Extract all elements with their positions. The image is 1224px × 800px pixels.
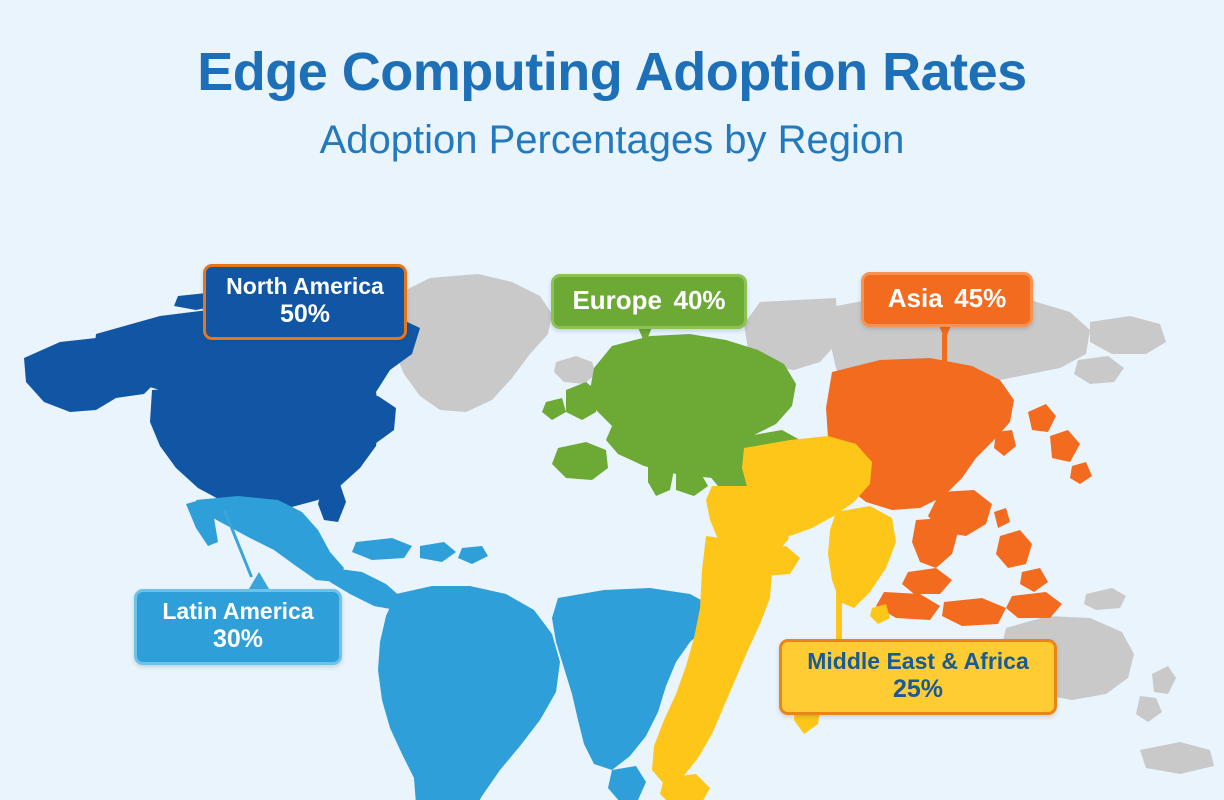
- callout-asia-label: Asia: [888, 283, 943, 313]
- header: Edge Computing Adoption Rates Adoption P…: [0, 0, 1224, 162]
- callout-north-america[interactable]: North America 50%: [203, 264, 407, 340]
- callout-north-america-label: North America: [222, 274, 388, 300]
- callout-europe-value: 40%: [673, 285, 725, 315]
- callout-latin-america[interactable]: Latin America 30%: [134, 589, 342, 665]
- connector-line-asia: [942, 334, 947, 402]
- callout-europe-label: Europe: [572, 285, 662, 315]
- callout-asia-value: 45%: [954, 283, 1006, 313]
- world-map: [0, 250, 1224, 800]
- infographic-canvas: Edge Computing Adoption Rates Adoption P…: [0, 0, 1224, 800]
- callout-middle-east-africa-label: Middle East & Africa: [798, 649, 1038, 675]
- callout-latin-america-label: Latin America: [153, 599, 323, 625]
- page-title: Edge Computing Adoption Rates: [0, 44, 1224, 101]
- world-map-svg: [0, 250, 1224, 800]
- callout-middle-east-africa-value: 25%: [798, 675, 1038, 703]
- callout-middle-east-africa[interactable]: Middle East & Africa 25%: [779, 639, 1057, 715]
- callout-asia[interactable]: Asia 45%: [861, 272, 1033, 327]
- page-subtitle: Adoption Percentages by Region: [0, 119, 1224, 162]
- callout-europe[interactable]: Europe 40%: [551, 274, 747, 329]
- callout-north-america-value: 50%: [222, 300, 388, 328]
- connector-line-middle-east-africa: [836, 516, 842, 642]
- callout-latin-america-value: 30%: [153, 625, 323, 653]
